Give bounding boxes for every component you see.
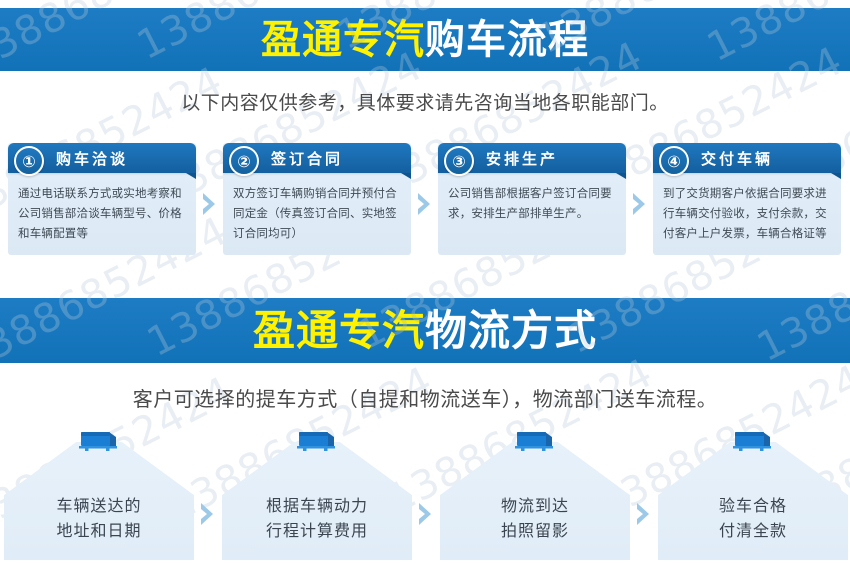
logistics-subtitle: 客户可选择的提车方式（自提和物流送车），物流部门送车流程。 [0,383,850,412]
logistics-steps-row: 车辆送达的 地址和日期 根据车辆动力 行程计算费用 [4,428,846,560]
step-body-4: 到了交货期客户依据合同要求进行车辆交付验收，支付余款，交付客户上户发票，车辆合格… [653,173,841,243]
truck-icon-2 [294,428,340,454]
step-card-2-header: ② 签订合同 [223,143,411,173]
chevron-right-icon-6 [630,428,658,560]
logistics-banner: 1388685242413886852424138868524241388685… [0,298,850,363]
chevron-right-icon-2 [411,191,438,217]
brand-name-text: 盈通专汽 [261,17,425,63]
logistics-banner-title: 盈通专汽物流方式 [253,310,597,352]
step-body-1: 通过电话联系方式或实地考察和公司销售部洽谈车辆型号、价格和车辆配置等 [8,173,196,243]
step-title-1: 购车洽谈 [56,148,128,169]
step-card-1: ① 购车洽谈 通过电话联系方式或实地考察和公司销售部洽谈车辆型号、价格和车辆配置… [8,143,196,255]
logistics-card-2-text: 根据车辆动力 行程计算费用 [222,493,412,544]
logistics-card-1-line1: 车辆送达的 [4,493,194,519]
logistics-card-4-line2: 付清全款 [658,518,848,544]
logistics-card-3-line1: 物流到达 [440,493,630,519]
truck-icon-3 [512,428,558,454]
logistics-card-1: 车辆送达的 地址和日期 [4,428,194,560]
logistics-card-4-line1: 验车合格 [658,493,848,519]
step-card-4: ④ 交付车辆 到了交货期客户依据合同要求进行车辆交付验收，支付余款，交付客户上户… [653,143,841,255]
logistics-card-2-line2: 行程计算费用 [222,518,412,544]
product-detail-page: 1388685242413886852424138868524241388685… [0,0,850,564]
logistics-card-2-line1: 根据车辆动力 [222,493,412,519]
logistics-card-1-line2: 地址和日期 [4,518,194,544]
brand-name-text-2: 盈通专汽 [253,306,425,355]
chevron-right-icon-5 [412,428,440,560]
chevron-right-icon-3 [626,191,653,217]
step-number-badge-4: ④ [659,146,689,176]
purchase-process-banner-title: 盈通专汽购车流程 [261,20,589,60]
step-number-badge-3: ③ [444,146,474,176]
purchase-process-banner: 1388685242413886852424138868524241388685… [0,8,850,71]
purchase-process-title-text: 购车流程 [425,17,589,63]
logistics-card-1-text: 车辆送达的 地址和日期 [4,493,194,544]
logistics-card-3: 物流到达 拍照留影 [440,428,630,560]
step-card-3-header: ③ 安排生产 [438,143,626,173]
truck-icon-4 [730,428,776,454]
chevron-right-icon-1 [196,191,223,217]
step-card-1-header: ① 购车洽谈 [8,143,196,173]
truck-icon-1 [76,428,122,454]
step-body-2: 双方签订车辆购销合同并预付合同定金（传真签订合同、实地签订合同均可） [223,173,411,243]
step-number-badge-2: ② [229,146,259,176]
logistics-title-text: 物流方式 [425,306,597,355]
step-title-2: 签订合同 [271,148,343,169]
step-number-badge-1: ① [14,146,44,176]
logistics-card-4: 验车合格 付清全款 [658,428,848,560]
step-card-4-header: ④ 交付车辆 [653,143,841,173]
purchase-steps-row: ① 购车洽谈 通过电话联系方式或实地考察和公司销售部洽谈车辆型号、价格和车辆配置… [8,143,842,255]
logistics-card-3-line2: 拍照留影 [440,518,630,544]
step-card-2: ② 签订合同 双方签订车辆购销合同并预付合同定金（传真签订合同、实地签订合同均可… [223,143,411,255]
chevron-right-icon-4 [194,428,222,560]
logistics-card-3-text: 物流到达 拍照留影 [440,493,630,544]
purchase-process-subtitle: 以下内容仅供参考，具体要求请先咨询当地各职能部门。 [0,88,850,115]
step-title-3: 安排生产 [486,148,558,169]
step-card-3: ③ 安排生产 公司销售部根据客户签订合同要求，安排生产部排单生产。 [438,143,626,255]
step-body-3: 公司销售部根据客户签订合同要求，安排生产部排单生产。 [438,173,626,223]
logistics-card-2: 根据车辆动力 行程计算费用 [222,428,412,560]
step-title-4: 交付车辆 [701,148,773,169]
logistics-card-4-text: 验车合格 付清全款 [658,493,848,544]
